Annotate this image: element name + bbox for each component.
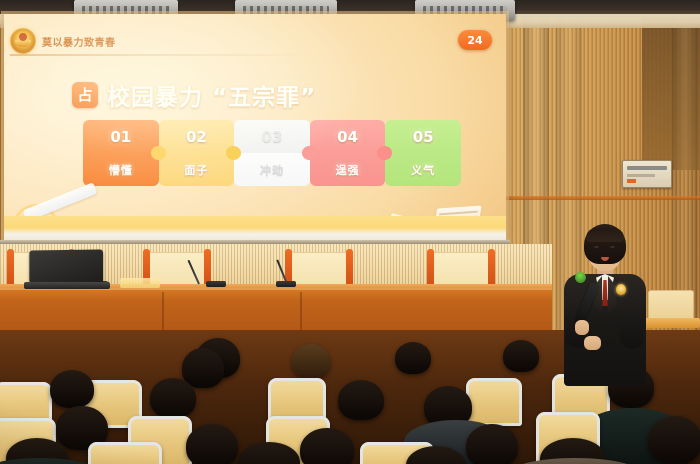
desk-papers (120, 278, 160, 288)
puzzle-card: 04 逞强 (310, 120, 386, 186)
audience-head (466, 424, 518, 464)
card-label: 义气 (411, 162, 435, 178)
wall-control-panel-icon (622, 160, 672, 188)
screenshot-root: 莫以暴力致青春 24 占 校园暴力 “五宗罪” 01 懵懂 02 面子 03 冲… (0, 0, 700, 464)
puzzle-card: 02 面子 (159, 120, 235, 186)
slide-page-number-badge: 24 (458, 30, 492, 50)
slide-title: 校园暴力 “五宗罪” (107, 78, 316, 112)
projection-screen: 莫以暴力致青春 24 占 校园暴力 “五宗罪” 01 懵懂 02 面子 03 冲… (4, 14, 506, 242)
puzzle-card: 01 懵懂 (83, 120, 159, 186)
card-number: 02 (186, 128, 207, 146)
wall-pillar-right (672, 0, 698, 340)
audience-head (503, 340, 539, 372)
emblem-badge-icon (616, 284, 626, 295)
audience-head (186, 424, 238, 464)
card-label: 懵懂 (109, 162, 133, 178)
puzzle-card: 05 义气 (385, 120, 461, 186)
slide-header: 莫以暴力致青春 (10, 28, 116, 54)
puzzle-card-row: 01 懵懂 02 面子 03 冲动 04 逞强 05 义气 (83, 120, 461, 186)
card-number: 04 (337, 128, 358, 146)
desk-microphone-base (206, 281, 226, 287)
card-label: 面子 (184, 162, 208, 178)
audience-seat (88, 442, 162, 464)
card-number: 01 (110, 128, 131, 146)
card-number: 03 (262, 128, 283, 146)
speaker-presenter (556, 224, 652, 384)
wall-trim-line (505, 196, 700, 200)
audience-head (300, 428, 354, 464)
laptop-icon (28, 250, 106, 290)
audience-head (338, 380, 384, 420)
slide-title-row: 占 校园暴力 “五宗罪” (72, 78, 316, 112)
card-number: 05 (413, 128, 434, 146)
puzzle-card: 03 冲动 (234, 120, 310, 186)
desk-microphone-base (276, 281, 296, 287)
audience-head (50, 370, 94, 408)
audience-head (292, 344, 330, 378)
audience-head (648, 416, 700, 464)
audience-head (150, 378, 196, 418)
procuratorate-emblem-icon (10, 28, 36, 54)
slide-footer-band (4, 216, 506, 242)
title-badge-icon: 占 (72, 82, 98, 108)
puzzle-knob-icon (151, 146, 166, 160)
slide-header-rule (10, 54, 310, 56)
card-label: 逞强 (336, 162, 360, 178)
puzzle-knob-icon (302, 146, 317, 160)
card-label: 冲动 (260, 162, 284, 178)
audience-head (182, 348, 224, 388)
side-table (640, 318, 700, 328)
slide-header-text: 莫以暴力致青春 (42, 34, 116, 49)
audience-seat (466, 378, 522, 426)
audience-head (395, 342, 431, 374)
